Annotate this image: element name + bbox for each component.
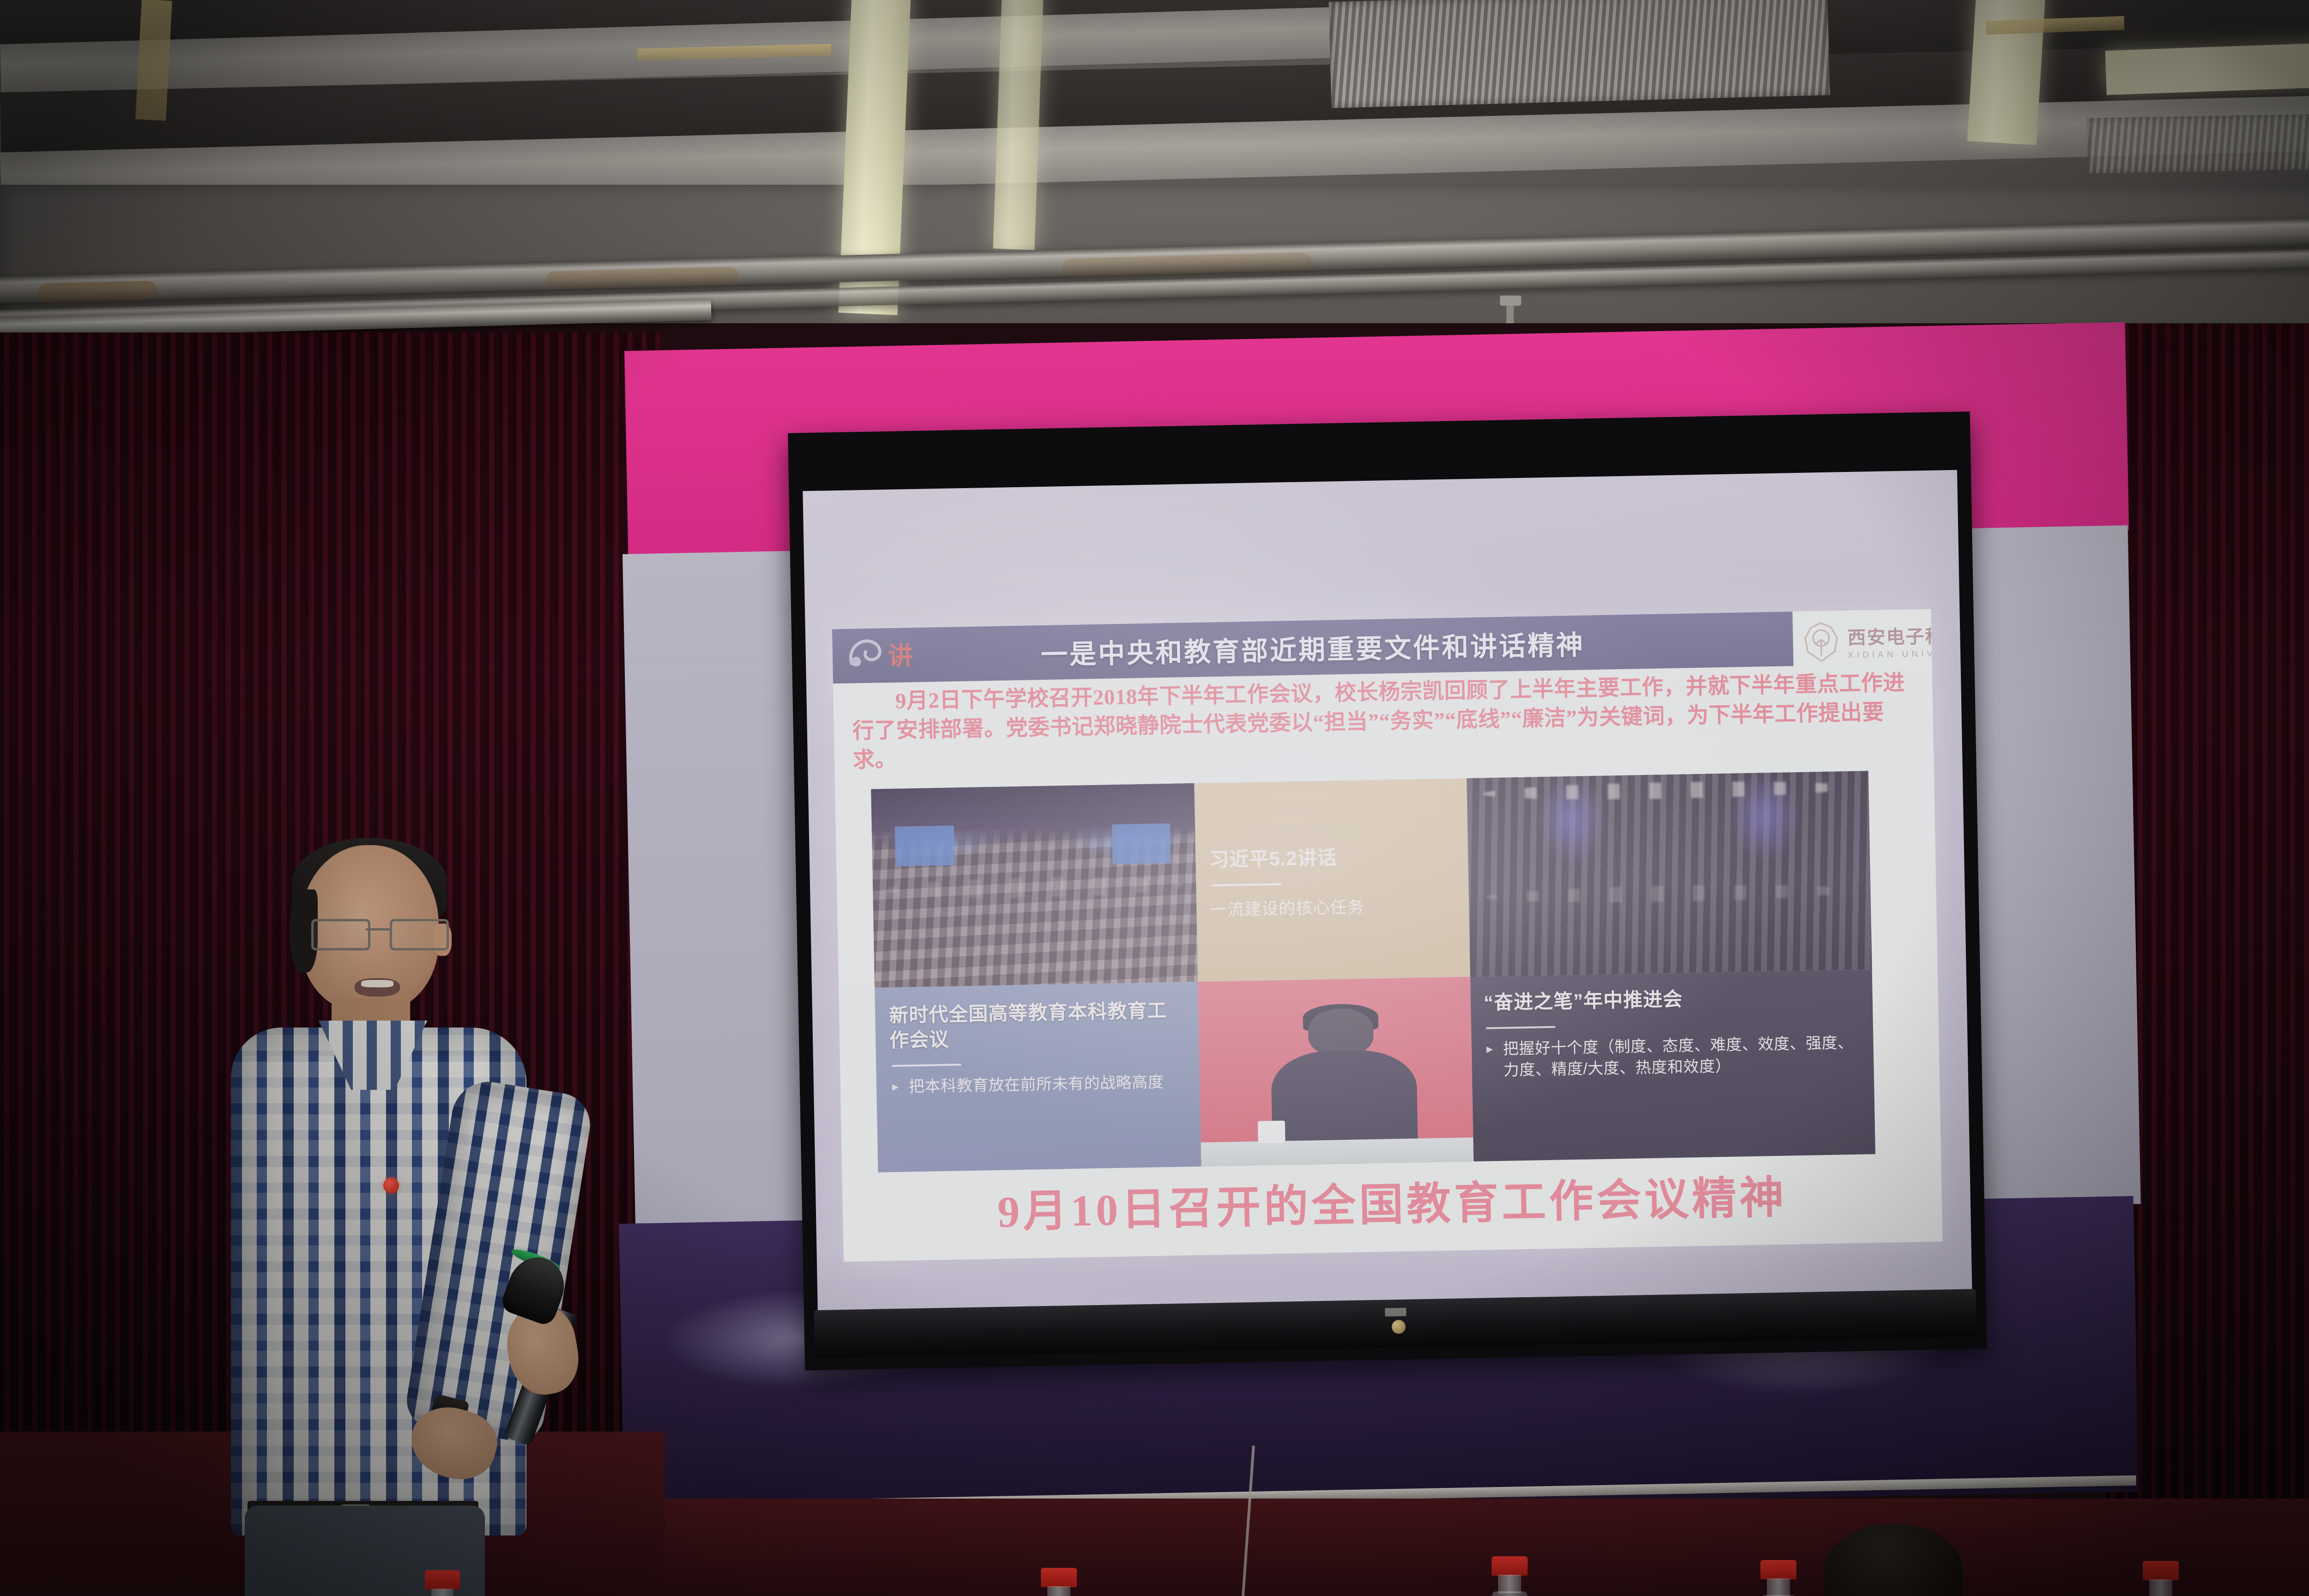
photo-meeting-hall (1467, 771, 1872, 977)
decorative-swirl-icon (842, 632, 888, 677)
divider (892, 1064, 961, 1067)
panel-undergrad-education-conference: 新时代全国高等教育本科教育工作会议 把本科教育放在前所未有的战略高度 (875, 982, 1201, 1173)
panel-dark-heading: “奋进之笔”年中推进会 (1483, 984, 1860, 1016)
photo-conference-audience (871, 783, 1198, 988)
ceiling-vent-grille (1329, 0, 1830, 108)
projection-screen: 讲 一是中央和教育部近期重要文件和讲话精神 西安电子科技大学 (788, 411, 1987, 1371)
panel-tan-heading: 习近平5.2讲话 (1209, 840, 1454, 872)
slide-title: 一是中央和教育部近期重要文件和讲话精神 (832, 619, 1793, 676)
slide: 讲 一是中央和教育部近期重要文件和讲话精神 西安电子科技大学 (832, 609, 1943, 1262)
panel-blue-heading: 新时代全国高等教育本科教育工作会议 (889, 997, 1185, 1052)
water-bottle[interactable] (2143, 1561, 2179, 1596)
sprinkler-cap (1500, 296, 1521, 306)
slide-footline: 9月10日召开的全国教育工作会议精神 (842, 1159, 1942, 1243)
presenter (231, 845, 591, 1593)
xidian-seal-icon (1801, 621, 1842, 664)
lapel-pin-icon (383, 1178, 399, 1193)
photo-scene: 讲 一是中央和教育部近期重要文件和讲话精神 西安电子科技大学 (0, 0, 2309, 1596)
teacup (1257, 1121, 1285, 1143)
panel-blue-bullet: 把本科教育放在前所未有的战略高度 (890, 1071, 1186, 1098)
eyeglasses-icon (308, 919, 447, 948)
ceiling (0, 0, 2309, 351)
slide-collage: 新时代全国高等教育本科教育工作会议 把本科教育放在前所未有的战略高度 习近平5.… (871, 771, 1875, 1172)
presenter-teeth (361, 980, 393, 987)
university-name-en: XIDIAN UNIVERSITY (1848, 648, 1942, 661)
panel-dark-bullet: 把握好十个度（制度、态度、难度、效度、强度、力度、精度/大度、热度和效度） (1484, 1032, 1861, 1082)
panel-tan-subheading: 一流建设的核心任务 (1210, 892, 1456, 920)
divider (1486, 1026, 1555, 1029)
water-bottle[interactable] (1760, 1560, 1796, 1596)
university-name-cn: 西安电子科技大学 (1847, 620, 1943, 650)
panel-xi-speech: 习近平5.2讲话 一流建设的核心任务 (1194, 778, 1470, 982)
photo-speaker-at-table (1198, 977, 1474, 1167)
ceiling-light-strip (2105, 42, 2309, 95)
slide-title-red-mark: 讲 (888, 635, 913, 672)
slide-title-bar: 讲 一是中央和教育部近期重要文件和讲话精神 (832, 611, 1794, 683)
panel-midyear-promotion-meeting: “奋进之笔”年中推进会 把握好十个度（制度、态度、难度、效度、强度、力度、精度/… (1470, 969, 1875, 1161)
slide-body-paragraph: 9月2日下午学校召开2018年下半年工作会议，校长杨宗凯回顾了上半年主要工作，并… (852, 668, 1915, 775)
stage-curtain-right (2106, 323, 2309, 1505)
screen-brand-tag (1385, 1308, 1406, 1317)
water-bottle[interactable] (425, 1570, 460, 1596)
water-bottle[interactable] (1492, 1556, 1528, 1596)
screen-surface: 讲 一是中央和教育部近期重要文件和讲话精神 西安电子科技大学 (803, 470, 1972, 1318)
water-bottle[interactable] (1041, 1568, 1077, 1596)
ceiling-vent-grille (2087, 113, 2309, 174)
university-logo: 西安电子科技大学 XIDIAN UNIVERSITY (1794, 611, 1943, 671)
divider (1212, 883, 1281, 886)
